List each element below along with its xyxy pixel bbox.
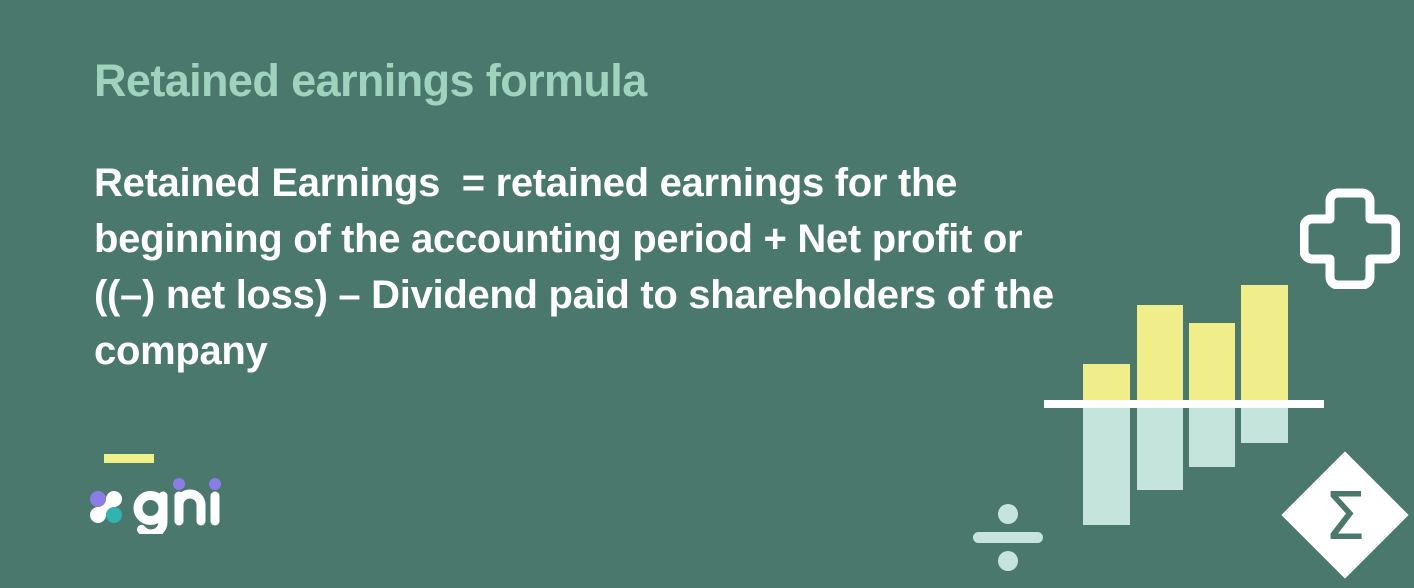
divide-icon bbox=[968, 498, 1048, 583]
bar-segment-above-axis bbox=[1083, 364, 1130, 404]
svg-text:Σ: Σ bbox=[1324, 478, 1366, 555]
bar-segment-below-axis bbox=[1083, 408, 1130, 525]
bar-segment-above-axis bbox=[1241, 285, 1288, 404]
chart-axis-line bbox=[1044, 400, 1324, 408]
bar-segment-above-axis bbox=[1137, 305, 1183, 404]
page-title: Retained earnings formula bbox=[94, 56, 647, 106]
accent-rule bbox=[104, 454, 154, 463]
gini-mark-icon bbox=[86, 488, 126, 531]
bar-segment-below-axis bbox=[1241, 408, 1288, 443]
bar-segment-above-axis bbox=[1189, 323, 1235, 404]
retained-earnings-formula-card: Retained earnings formula Retained Earni… bbox=[0, 0, 1414, 588]
brand-logo[interactable] bbox=[86, 480, 231, 532]
bar-chart bbox=[1040, 278, 1330, 534]
bar-segment-below-axis bbox=[1137, 408, 1183, 490]
bar-segment-below-axis bbox=[1189, 408, 1235, 467]
gini-wordmark-icon bbox=[130, 478, 234, 539]
formula-text: Retained Earnings = retained earnings fo… bbox=[94, 155, 1084, 379]
